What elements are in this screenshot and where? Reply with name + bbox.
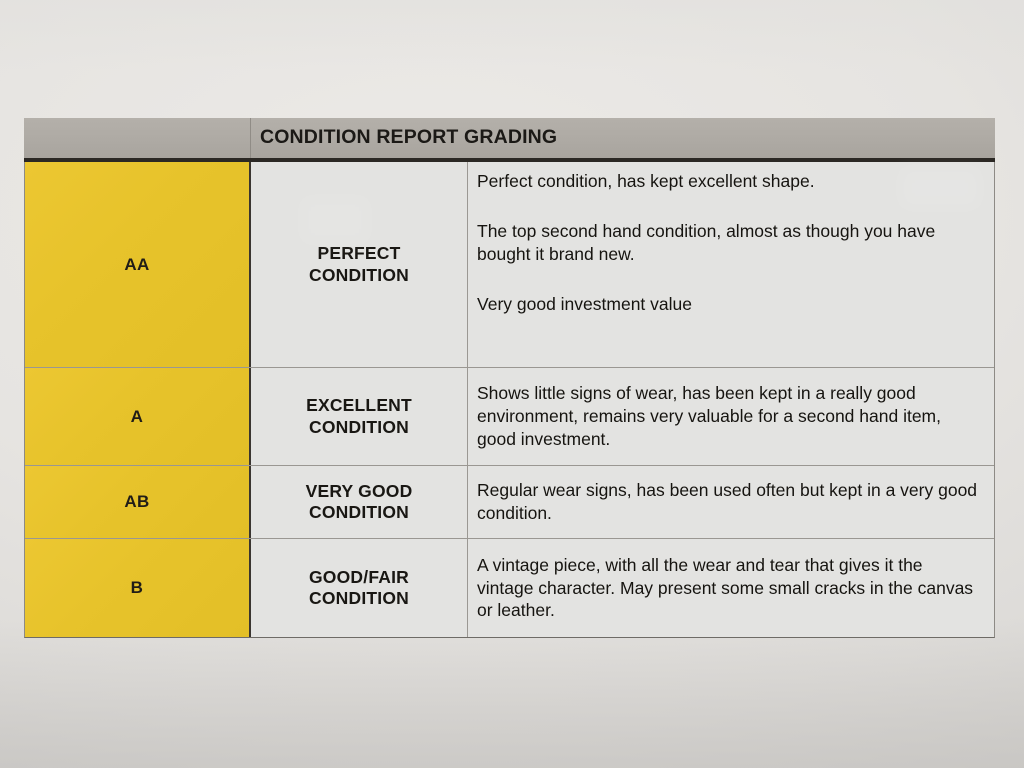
condition-label-line-2: CONDITION xyxy=(309,588,409,609)
description-paragraph: Regular wear signs, has been used often … xyxy=(477,479,980,525)
condition-report-grading-table: CONDITION REPORT GRADING AA PERFECT COND… xyxy=(24,118,995,637)
description-paragraph: Shows little signs of wear, has been kep… xyxy=(477,382,980,451)
condition-description-cell: A vintage piece, with all the wear and t… xyxy=(468,539,994,637)
condition-label-line-2: CONDITION xyxy=(309,265,409,286)
description-paragraph: A vintage piece, with all the wear and t… xyxy=(477,554,980,623)
condition-description-cell: Shows little signs of wear, has been kep… xyxy=(468,368,994,465)
condition-label-cell: VERY GOOD CONDITION xyxy=(251,466,468,538)
condition-label-line-1: GOOD/FAIR xyxy=(309,567,409,588)
paper-bottom-shading xyxy=(0,618,1024,768)
table-title: CONDITION REPORT GRADING xyxy=(251,128,995,148)
condition-label-line-2: CONDITION xyxy=(309,502,409,523)
condition-label-line-1: EXCELLENT xyxy=(306,395,412,416)
table-row: AB VERY GOOD CONDITION Regular wear sign… xyxy=(25,466,994,539)
table-row: A EXCELLENT CONDITION Shows little signs… xyxy=(25,368,994,466)
description-paragraph: Very good investment value xyxy=(477,293,980,316)
table-row: B GOOD/FAIR CONDITION A vintage piece, w… xyxy=(25,539,994,637)
condition-label-line-2: CONDITION xyxy=(309,417,409,438)
paper-top-shading xyxy=(0,0,1024,70)
description-paragraph: Perfect condition, has kept excellent sh… xyxy=(477,170,980,193)
grade-code-cell: A xyxy=(25,368,251,465)
grade-code-cell: AB xyxy=(25,466,251,538)
condition-label-line-1: PERFECT xyxy=(317,243,400,264)
grade-code-cell: B xyxy=(25,539,251,637)
description-paragraph: The top second hand condition, almost as… xyxy=(477,220,980,266)
table-row: AA PERFECT CONDITION Perfect condition, … xyxy=(25,162,994,368)
table-body: AA PERFECT CONDITION Perfect condition, … xyxy=(24,162,995,638)
condition-label-cell: PERFECT CONDITION xyxy=(251,162,468,367)
table-header-spacer xyxy=(24,118,251,158)
condition-label-cell: EXCELLENT CONDITION xyxy=(251,368,468,465)
table-header-row: CONDITION REPORT GRADING xyxy=(24,118,995,162)
condition-label-line-1: VERY GOOD xyxy=(306,481,413,502)
condition-description-cell: Perfect condition, has kept excellent sh… xyxy=(468,162,994,367)
grade-code-cell: AA xyxy=(25,162,251,367)
condition-label-cell: GOOD/FAIR CONDITION xyxy=(251,539,468,637)
condition-description-cell: Regular wear signs, has been used often … xyxy=(468,466,994,538)
